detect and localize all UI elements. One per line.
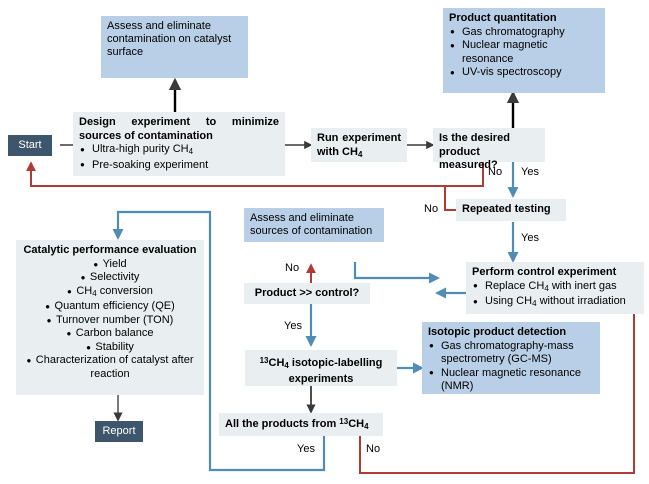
node-design-experiment[interactable]: Design experiment to minimize sources of… (73, 112, 285, 176)
list-item: Nuclear magnetic resonance (NMR) (428, 367, 594, 394)
node-run-experiment[interactable]: Run experiment with CH4 (311, 128, 407, 162)
node-is-product-measured[interactable]: Is the desired product measured? (433, 128, 545, 162)
edge-assess-sources-to-control (355, 262, 438, 278)
isotopic-labelling-line2: experiments (251, 373, 391, 387)
node-report-label: Report (102, 425, 135, 438)
list-item: Gas chromatography (449, 26, 599, 40)
isotopic-labelling-line1: 13CH4 isotopic-labelling (251, 354, 391, 373)
assess-sources-line1: Assess and eliminate (250, 212, 378, 225)
node-all-products-from-13ch4[interactable]: All the products from 13CH4 (219, 413, 383, 436)
perform-control-bullets: Replace CH4 with inert gas Using CH4 wit… (472, 280, 638, 311)
isotopic-detection-bullets: Gas chromatography-mass spectrometry (GC… (428, 340, 594, 394)
is-measured-line1: Is the desired (439, 132, 539, 146)
edge-repeated-no-to-return (445, 186, 456, 210)
catalytic-evaluation-bullets: Yield Selectivity CH4 conversion Quantum… (22, 258, 198, 382)
list-item: UV-vis spectroscopy (449, 66, 599, 80)
node-product-vs-control[interactable]: Product >> control? (244, 283, 370, 304)
list-item: Using CH4 without irradiation (472, 295, 638, 311)
node-repeated-testing[interactable]: Repeated testing (456, 199, 566, 221)
list-item: Ultra-high purity CH4 (79, 143, 279, 159)
run-experiment-line1: Run experiment (317, 132, 401, 146)
isotopic-detection-title: Isotopic product detection (428, 326, 594, 340)
assess-catalyst-line2: contamination on catalyst (107, 33, 242, 46)
node-report[interactable]: Report (95, 421, 143, 442)
edge-label-control-yes: Yes (284, 320, 302, 332)
list-item: Pre-soaking experiment (79, 159, 279, 173)
list-item: Gas chromatography-mass spectrometry (GC… (428, 340, 594, 367)
node-assess-sources-contamination[interactable]: Assess and eliminate sources of contamin… (244, 208, 384, 242)
list-item: Carbon balance (22, 327, 198, 341)
assess-catalyst-line1: Assess and eliminate (107, 20, 242, 33)
node-start[interactable]: Start (8, 135, 52, 156)
list-item: Yield (22, 258, 198, 272)
product-quantitation-bullets: Gas chromatography Nuclear magnetic reso… (449, 26, 599, 80)
list-item: Quantum efficiency (QE) (22, 300, 198, 314)
edge-label-measured-no: No (488, 166, 502, 178)
list-item: Replace CH4 with inert gas (472, 280, 638, 296)
list-item: Turnover number (TON) (22, 314, 198, 328)
all-products-label: All the products from 13CH4 (225, 415, 369, 434)
node-perform-control-experiment[interactable]: Perform control experiment Replace CH4 w… (466, 262, 644, 314)
perform-control-title: Perform control experiment (472, 266, 638, 280)
list-item: Characterization of catalyst after react… (22, 354, 198, 381)
assess-catalyst-line3: surface (107, 46, 242, 59)
assess-sources-line2: sources of contamination (250, 225, 378, 238)
list-item: Nuclear magnetic resonance (449, 39, 599, 66)
edge-label-all-products-yes: Yes (297, 443, 315, 455)
edge-label-repeated-no: No (424, 203, 438, 215)
edge-label-control-no: No (285, 262, 299, 274)
design-experiment-title-line2: sources of contamination (79, 130, 279, 144)
edge-label-repeated-yes: Yes (521, 232, 539, 244)
node-assess-catalyst-contamination[interactable]: Assess and eliminate contamination on ca… (101, 16, 248, 78)
repeated-testing-label: Repeated testing (462, 203, 551, 217)
design-experiment-bullets: Ultra-high purity CH4 Pre-soaking experi… (79, 143, 279, 172)
product-quantitation-title: Product quantitation (449, 12, 599, 26)
node-start-label: Start (18, 139, 41, 152)
design-experiment-title-line1: Design experiment to minimize (79, 116, 279, 130)
edge-label-all-products-no: No (366, 443, 380, 455)
edge-label-measured-yes: Yes (521, 166, 539, 178)
catalytic-evaluation-title: Catalytic performance evaluation (22, 244, 198, 258)
node-isotopic-labelling-experiments[interactable]: 13CH4 isotopic-labelling experiments (245, 350, 397, 386)
flowchart-canvas: Start Assess and eliminate contamination… (0, 0, 649, 484)
node-isotopic-product-detection[interactable]: Isotopic product detection Gas chromatog… (422, 322, 600, 394)
list-item: Selectivity (22, 271, 198, 285)
list-item: Stability (22, 341, 198, 355)
product-vs-control-label: Product >> control? (255, 287, 360, 301)
list-item: CH4 conversion (22, 285, 198, 301)
run-experiment-line2: with CH4 (317, 146, 401, 162)
node-product-quantitation[interactable]: Product quantitation Gas chromatography … (443, 8, 605, 93)
node-catalytic-performance-evaluation[interactable]: Catalytic performance evaluation Yield S… (16, 240, 204, 395)
